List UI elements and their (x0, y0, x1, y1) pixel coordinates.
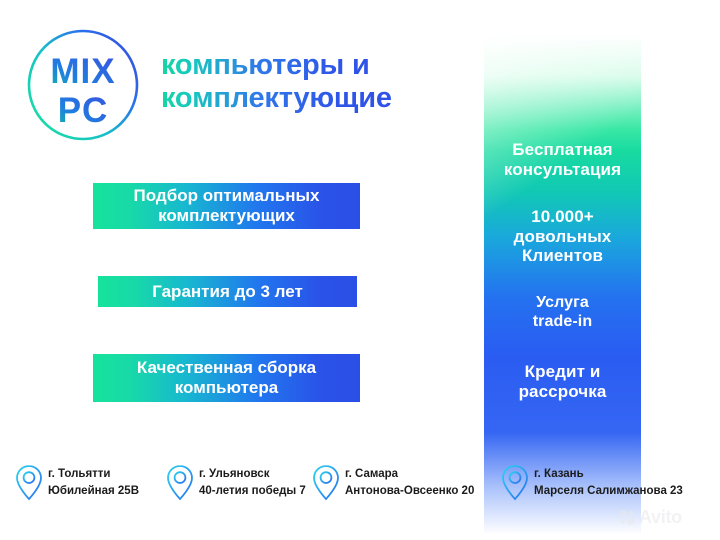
map-pin-icon (165, 463, 195, 503)
location-text: г. Ульяновск 40-летия победы 7 (199, 466, 306, 499)
promo-item-line1: Бесплатная (512, 140, 612, 159)
headline-line-1: компьютеры и (161, 49, 370, 81)
avito-logo-icon (619, 509, 636, 526)
page-title: компьютеры и комплектующие (161, 49, 481, 115)
promo-item-consultation: Бесплатная консультация (484, 140, 641, 179)
feature-bar-components: Подбор оптимальных комплектующих (93, 183, 360, 229)
location-city: г. Ульяновск (199, 468, 269, 480)
location-text: г. Тольятти Юбилейная 25В (48, 466, 139, 499)
logo: MIX PC (23, 26, 143, 144)
location-address: Антонова-Овсеенко 20 (345, 485, 474, 497)
map-pin-icon (500, 463, 530, 503)
map-pin-icon (311, 463, 341, 503)
location-text: г. Казань Марселя Салимжанова 23 (534, 466, 683, 499)
promo-item-line1: Услуга (536, 294, 589, 311)
logo-text-mix: MIX (50, 52, 115, 91)
promo-item-clients: 10.000+ довольных Клиентов (484, 207, 641, 266)
feature-bar-assembly: Качественная сборка компьютера (93, 354, 360, 402)
headline-line-2: комплектующие (161, 82, 481, 115)
promo-item-line2: консультация (504, 160, 621, 179)
advertisement-banner: Бесплатная консультация 10.000+ довольны… (0, 0, 720, 540)
feature-line1: Подбор оптимальных (134, 186, 320, 205)
feature-line1: Гарантия до 3 лет (152, 282, 303, 301)
promo-item-line2: довольных (514, 227, 612, 246)
logo-text-pc: PC (58, 91, 109, 130)
map-pin-icon (14, 463, 44, 503)
location-city: г. Самара (345, 468, 398, 480)
locations-footer: г. Тольятти Юбилейная 25В г. Ульяновск 4… (0, 455, 720, 515)
feature-line2: комплектующих (158, 206, 295, 225)
feature-line2: компьютера (175, 378, 278, 397)
location-city: г. Казань (534, 468, 584, 480)
promo-item-line2: рассрочка (519, 382, 607, 401)
promo-item-credit: Кредит и рассрочка (484, 362, 641, 401)
location-item: г. Самара Антонова-Овсеенко 20 (311, 463, 474, 503)
promo-item-line2: trade-in (533, 313, 592, 330)
location-address: 40-летия победы 7 (199, 485, 306, 497)
location-text: г. Самара Антонова-Овсеенко 20 (345, 466, 474, 499)
promo-item-line1: Кредит и (525, 362, 601, 381)
promo-item-tradein: Услуга trade-in (484, 294, 641, 331)
location-item: г. Тольятти Юбилейная 25В (14, 463, 139, 503)
avito-watermark: Avito (619, 507, 682, 528)
feature-bar-warranty: Гарантия до 3 лет (98, 276, 357, 307)
location-address: Марселя Салимжанова 23 (534, 485, 683, 497)
avito-label: Avito (639, 507, 682, 528)
feature-line1: Качественная сборка (137, 358, 316, 377)
promo-item-line3: Клиентов (522, 246, 603, 265)
location-item: г. Казань Марселя Салимжанова 23 (500, 463, 683, 503)
location-city: г. Тольятти (48, 468, 111, 480)
promo-item-line1: 10.000+ (531, 207, 594, 226)
location-item: г. Ульяновск 40-летия победы 7 (165, 463, 306, 503)
location-address: Юбилейная 25В (48, 485, 139, 497)
